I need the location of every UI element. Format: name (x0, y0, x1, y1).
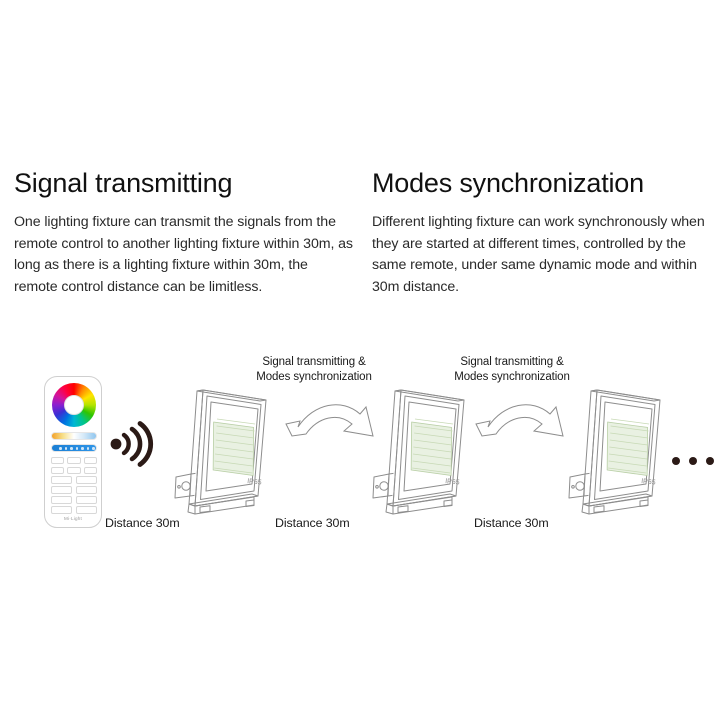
remote-keypad (51, 457, 97, 516)
product-feature-page: Signal transmitting One lighting fixture… (0, 0, 718, 718)
remote-key (76, 506, 97, 514)
remote-key (67, 457, 80, 464)
keypad-row (51, 486, 97, 494)
section-modes-synchronization: Modes synchronization Different lighting… (372, 168, 718, 298)
remote-key (51, 476, 72, 484)
brightness-slider-dots (59, 447, 95, 450)
distance-label-2: Distance 30m (275, 516, 350, 530)
ip-rating-label: IP65 (247, 478, 262, 486)
remote-key (51, 496, 72, 504)
distance-label-3: Distance 30m (474, 516, 549, 530)
section-body-right: Different lighting fixture can work sync… (372, 212, 718, 298)
remote-control: Mi·Light (44, 376, 102, 528)
remote-key (76, 476, 97, 484)
system-diagram: Signal transmitting & Modes synchronizat… (0, 336, 718, 556)
floodlight-fixture-3: IP65 (556, 378, 682, 518)
section-heading-left: Signal transmitting (14, 168, 354, 198)
brightness-slider (51, 444, 97, 452)
color-temperature-slider (51, 432, 97, 440)
ip-rating-label: IP65 (641, 478, 656, 486)
continuation-ellipsis-icon (672, 457, 714, 465)
keypad-row (51, 467, 97, 474)
ip-rating-label: IP65 (445, 478, 460, 486)
keypad-row (51, 457, 97, 464)
diagram-caption-1-line1: Signal transmitting & (224, 355, 404, 370)
diagram-caption-2-line1: Signal transmitting & (422, 355, 602, 370)
section-body-left: One lighting fixture can transmit the si… (14, 212, 354, 298)
remote-key (67, 467, 80, 474)
remote-key (51, 486, 72, 494)
remote-key (51, 467, 64, 474)
remote-key (51, 506, 72, 514)
remote-brand-logo: Mi·Light (45, 516, 101, 521)
remote-key (76, 496, 97, 504)
keypad-row (51, 496, 97, 504)
remote-key (51, 457, 64, 464)
remote-key (76, 486, 97, 494)
section-signal-transmitting: Signal transmitting One lighting fixture… (14, 168, 354, 298)
section-heading-right: Modes synchronization (372, 168, 718, 198)
color-wheel-icon (52, 383, 96, 427)
distance-label-1: Distance 30m (105, 516, 180, 530)
rf-signal-waves-icon (108, 420, 162, 468)
floodlight-fixture-1: IP65 (162, 378, 288, 518)
remote-key (84, 467, 97, 474)
remote-key (84, 457, 97, 464)
keypad-row (51, 476, 97, 484)
keypad-row (51, 506, 97, 514)
floodlight-fixture-2: IP65 (360, 378, 486, 518)
